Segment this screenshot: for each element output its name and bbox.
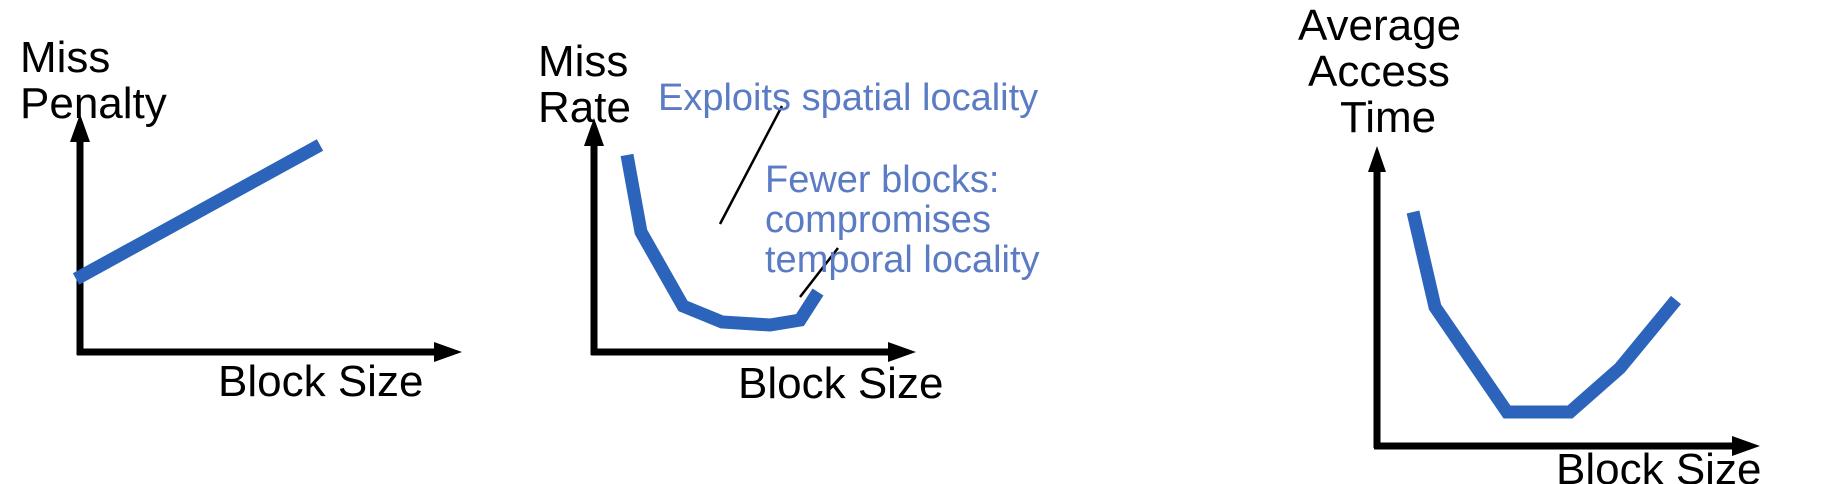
data-line-miss-penalty: [76, 145, 320, 279]
y-axis-label-line2: Rate: [538, 83, 631, 132]
y-axis-label-line1: Miss: [20, 33, 110, 82]
chart-panel-miss-rate: Miss Rate Exploits spatial locality Fewe…: [470, 0, 1280, 484]
y-axis-label-line3: Time: [1340, 93, 1436, 142]
x-axis-label: Block Size: [218, 357, 423, 406]
annotation-temporal-line1: Fewer blocks:: [765, 159, 999, 201]
miss-penalty-plot: Miss Penalty Block Size: [0, 0, 470, 484]
annotation-spatial-locality: Exploits spatial locality: [658, 77, 1038, 119]
x-axis-label: Block Size: [738, 359, 943, 408]
x-axis-arrowhead-icon: [434, 342, 462, 362]
annotation-temporal-line2: compromises: [765, 199, 991, 241]
chart-panel-miss-penalty: Miss Penalty Block Size: [0, 0, 470, 484]
miss-rate-plot: Miss Rate Exploits spatial locality Fewe…: [470, 0, 1280, 484]
block-size-tradeoff-figure: Miss Penalty Block Size Miss Rate: [0, 0, 1837, 484]
annotation-temporal-line3: temporal locality: [765, 239, 1040, 281]
x-axis-label: Block Size: [1556, 445, 1761, 484]
y-axis-label-line2: Penalty: [20, 79, 167, 128]
data-line-access-time: [1413, 212, 1676, 412]
y-axis-label-line1: Miss: [538, 37, 628, 86]
y-axis-label-line2: Access: [1308, 47, 1450, 96]
chart-panel-access-time: Average Access Time Block Size: [1280, 0, 1837, 484]
y-axis-label-line1: Average: [1298, 1, 1461, 50]
y-axis-arrowhead-icon: [1368, 146, 1386, 172]
access-time-plot: Average Access Time Block Size: [1280, 0, 1837, 484]
